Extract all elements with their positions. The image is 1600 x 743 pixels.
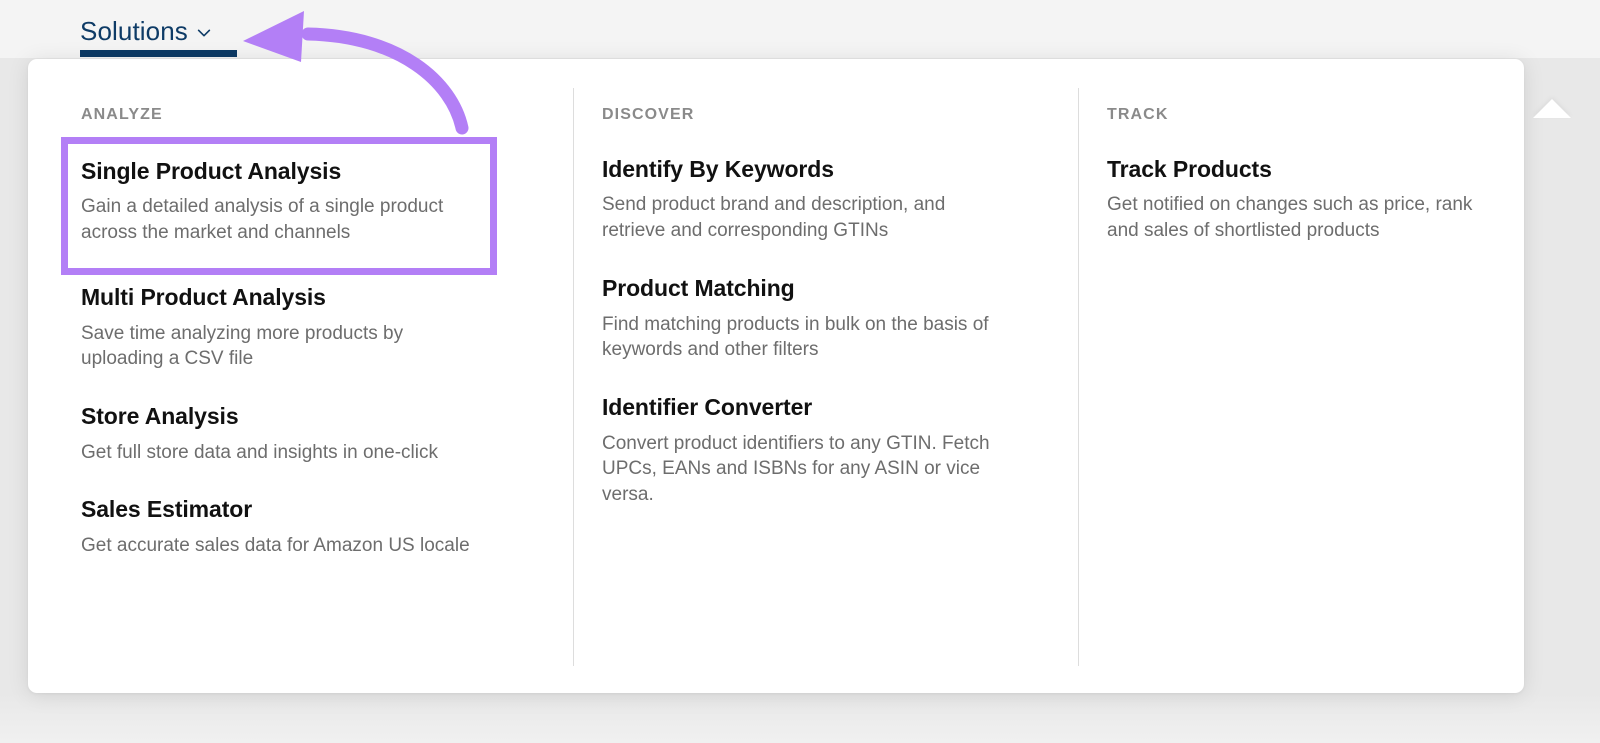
menu-item-identifier-converter[interactable]: Identifier Converter Convert product ide… bbox=[602, 394, 1012, 508]
menu-item-title: Product Matching bbox=[602, 275, 1012, 301]
menu-item-description: Get accurate sales data for Amazon US lo… bbox=[81, 533, 481, 559]
column-heading-track: TRACK bbox=[1107, 106, 1524, 124]
menu-item-title: Identifier Converter bbox=[602, 394, 1012, 420]
dropdown-caret-icon bbox=[1533, 99, 1571, 118]
menu-item-single-product-analysis[interactable]: Single Product Analysis Gain a detailed … bbox=[81, 156, 491, 246]
menu-item-description: Get full store data and insights in one-… bbox=[81, 440, 481, 466]
menu-item-title: Store Analysis bbox=[81, 403, 491, 429]
menu-column-discover: DISCOVER Identify By Keywords Send produ… bbox=[545, 59, 1050, 693]
page-background-fade bbox=[0, 693, 1600, 743]
menu-item-description: Save time analyzing more products by upl… bbox=[81, 321, 481, 373]
menu-item-store-analysis[interactable]: Store Analysis Get full store data and i… bbox=[81, 403, 491, 465]
column-heading-analyze: ANALYZE bbox=[81, 106, 545, 124]
menu-item-description: Find matching products in bulk on the ba… bbox=[602, 312, 1002, 364]
menu-item-title: Single Product Analysis bbox=[81, 158, 491, 184]
column-heading-discover: DISCOVER bbox=[602, 106, 1050, 124]
menu-column-analyze: ANALYZE Single Product Analysis Gain a d… bbox=[28, 59, 545, 693]
menu-item-title: Sales Estimator bbox=[81, 496, 491, 522]
menu-item-product-matching[interactable]: Product Matching Find matching products … bbox=[602, 275, 1012, 363]
menu-item-title: Identify By Keywords bbox=[602, 156, 1012, 182]
menu-item-description: Send product brand and description, and … bbox=[602, 192, 1002, 244]
menu-item-sales-estimator[interactable]: Sales Estimator Get accurate sales data … bbox=[81, 496, 491, 558]
solutions-dropdown-panel: ANALYZE Single Product Analysis Gain a d… bbox=[28, 59, 1524, 693]
nav-item-solutions-active-underline bbox=[80, 50, 237, 57]
site-navigation-bar: Solutions bbox=[0, 0, 1600, 58]
menu-item-title: Track Products bbox=[1107, 156, 1517, 182]
menu-item-identify-by-keywords[interactable]: Identify By Keywords Send product brand … bbox=[602, 156, 1012, 244]
menu-item-title: Multi Product Analysis bbox=[81, 284, 491, 310]
menu-item-description: Get notified on changes such as price, r… bbox=[1107, 192, 1507, 244]
menu-item-track-products[interactable]: Track Products Get notified on changes s… bbox=[1107, 156, 1517, 244]
menu-item-description: Gain a detailed analysis of a single pro… bbox=[81, 194, 481, 246]
chevron-down-icon bbox=[195, 20, 213, 42]
menu-item-description: Convert product identifiers to any GTIN.… bbox=[602, 431, 1002, 508]
menu-item-multi-product-analysis[interactable]: Multi Product Analysis Save time analyzi… bbox=[81, 284, 491, 372]
nav-item-solutions-label: Solutions bbox=[80, 18, 188, 44]
menu-column-track: TRACK Track Products Get notified on cha… bbox=[1050, 59, 1524, 693]
nav-item-solutions[interactable]: Solutions bbox=[80, 18, 213, 44]
